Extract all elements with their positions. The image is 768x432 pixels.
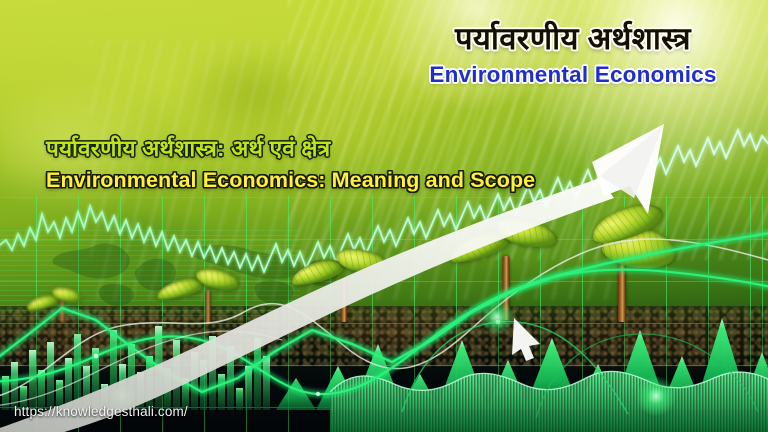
page-title-hindi: पर्यावरणीय अर्थशास्त्र — [392, 22, 754, 57]
subtitle-hindi: पर्यावरणीय अर्थशास्त्र: अर्थ एवं क्षेत्र — [46, 136, 535, 162]
main-title-block: पर्यावरणीय अर्थशास्त्र Environmental Eco… — [392, 22, 754, 88]
page-title-english: Environmental Economics — [392, 62, 754, 88]
subtitle-block: पर्यावरणीय अर्थशास्त्र: अर्थ एवं क्षेत्र… — [46, 136, 535, 193]
site-url[interactable]: https://knowledgesthali.com/ — [14, 404, 188, 419]
subtitle-english: Environmental Economics: Meaning and Sco… — [46, 168, 535, 193]
cursor-arrow-icon — [512, 318, 540, 361]
banner-image: पर्यावरणीय अर्थशास्त्र Environmental Eco… — [0, 0, 768, 432]
